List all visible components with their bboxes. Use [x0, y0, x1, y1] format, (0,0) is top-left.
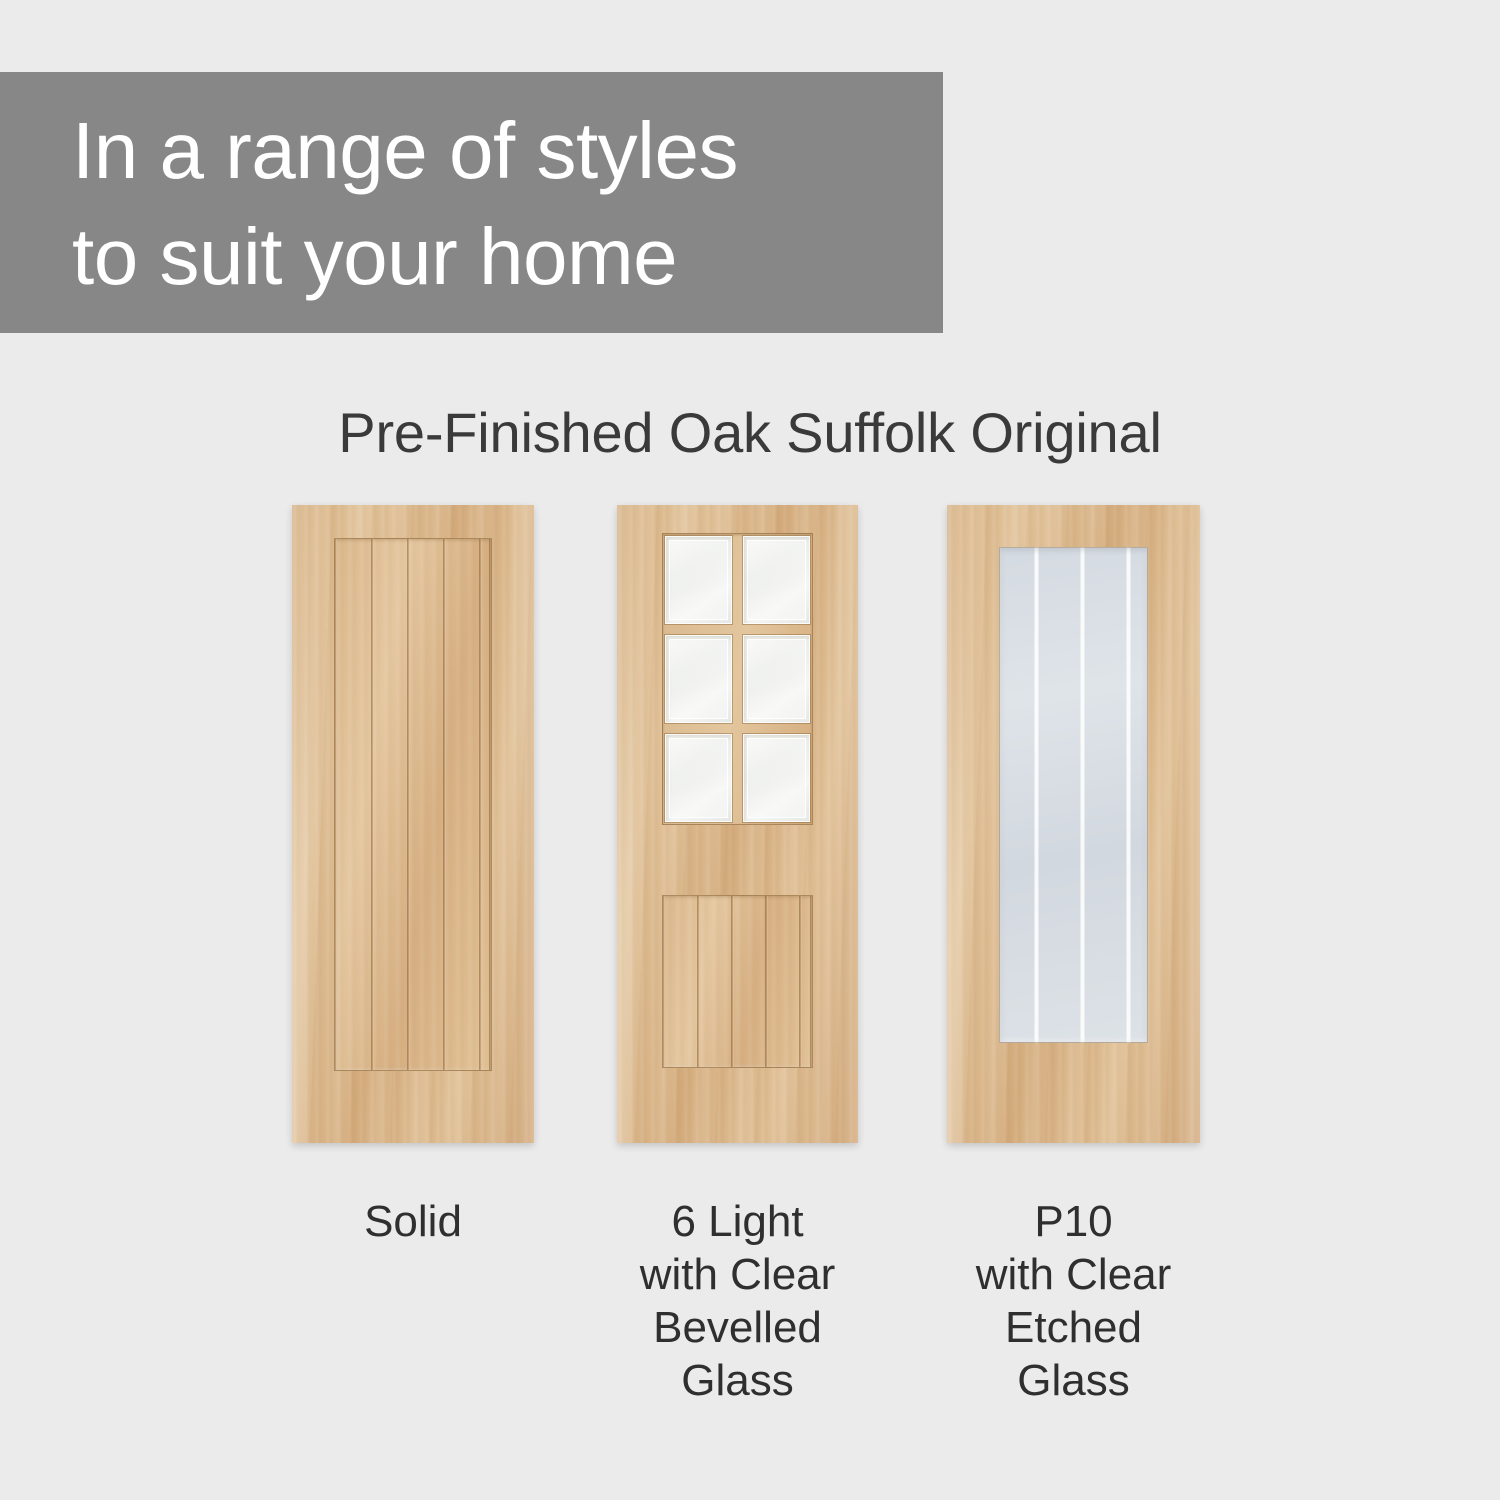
- panel-groove: [371, 539, 374, 1070]
- door-option-6-light[interactable]: [617, 505, 858, 1143]
- panel-groove: [697, 896, 700, 1067]
- hero-banner: In a range of styles to suit your home: [0, 72, 943, 333]
- caption-line: with Clear: [617, 1248, 858, 1301]
- caption-6-light: 6 Light with Clear Bevelled Glass: [617, 1195, 858, 1407]
- caption-p10: P10 with Clear Etched Glass: [947, 1195, 1200, 1407]
- glass-pane: [665, 734, 732, 822]
- panel-groove: [731, 896, 734, 1067]
- glass-pane: [743, 635, 810, 723]
- glass-pane: [665, 635, 732, 723]
- etched-glass-panel: [999, 547, 1148, 1043]
- door-slab-p10: [947, 505, 1200, 1143]
- door-captions: Solid 6 Light with Clear Bevelled Glass …: [0, 1195, 1500, 1445]
- hero-headline-line-2: to suit your home: [72, 204, 943, 310]
- caption-line: Bevelled: [617, 1301, 858, 1354]
- panel-groove: [443, 539, 446, 1070]
- panel-groove: [479, 539, 482, 1070]
- panel-groove: [334, 539, 337, 1070]
- door-gallery: [0, 505, 1500, 1145]
- caption-line: Glass: [947, 1354, 1200, 1407]
- caption-solid: Solid: [292, 1195, 534, 1248]
- tongue-and-groove-panel: [334, 538, 492, 1071]
- door-slab-6-light: [617, 505, 858, 1143]
- hero-headline-line-1: In a range of styles: [72, 98, 943, 204]
- panel-groove: [799, 896, 802, 1067]
- door-slab-solid: [292, 505, 534, 1143]
- panel-groove: [765, 896, 768, 1067]
- door-option-solid[interactable]: [292, 505, 534, 1143]
- tongue-and-groove-panel: [662, 895, 813, 1068]
- caption-line: Etched: [947, 1301, 1200, 1354]
- caption-line: Glass: [617, 1354, 858, 1407]
- panel-groove: [489, 539, 492, 1070]
- caption-line: Solid: [292, 1195, 534, 1248]
- glass-pane-grid: [662, 533, 813, 825]
- panel-groove: [662, 896, 665, 1067]
- caption-line: P10: [947, 1195, 1200, 1248]
- caption-line: with Clear: [947, 1248, 1200, 1301]
- door-option-p10[interactable]: [947, 505, 1200, 1143]
- page-title: Pre-Finished Oak Suffolk Original: [0, 398, 1500, 468]
- glass-pane: [743, 536, 810, 624]
- caption-line: 6 Light: [617, 1195, 858, 1248]
- panel-groove: [407, 539, 410, 1070]
- glass-pane: [743, 734, 810, 822]
- panel-groove: [810, 896, 813, 1067]
- glass-pane: [665, 536, 732, 624]
